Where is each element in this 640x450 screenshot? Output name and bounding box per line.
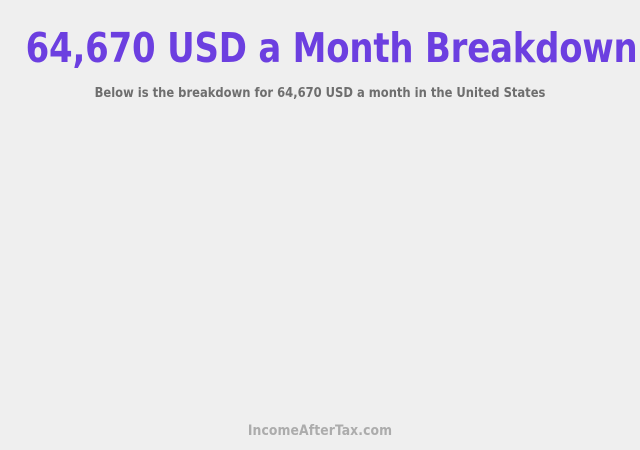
chart-canvas (0, 112, 640, 410)
site-footer: IncomeAfterTax.com (0, 410, 640, 450)
chart-region: Chart area is blank in the screenshot — … (0, 112, 640, 410)
page-subtitle: Below is the breakdown for 64,670 USD a … (16, 85, 624, 102)
page-title: 64,670 USD a Month Breakdown (26, 24, 615, 72)
infographic-page: 64,670 USD a Month Breakdown Below is th… (0, 0, 640, 450)
footer-credit: IncomeAfterTax.com (16, 422, 624, 440)
